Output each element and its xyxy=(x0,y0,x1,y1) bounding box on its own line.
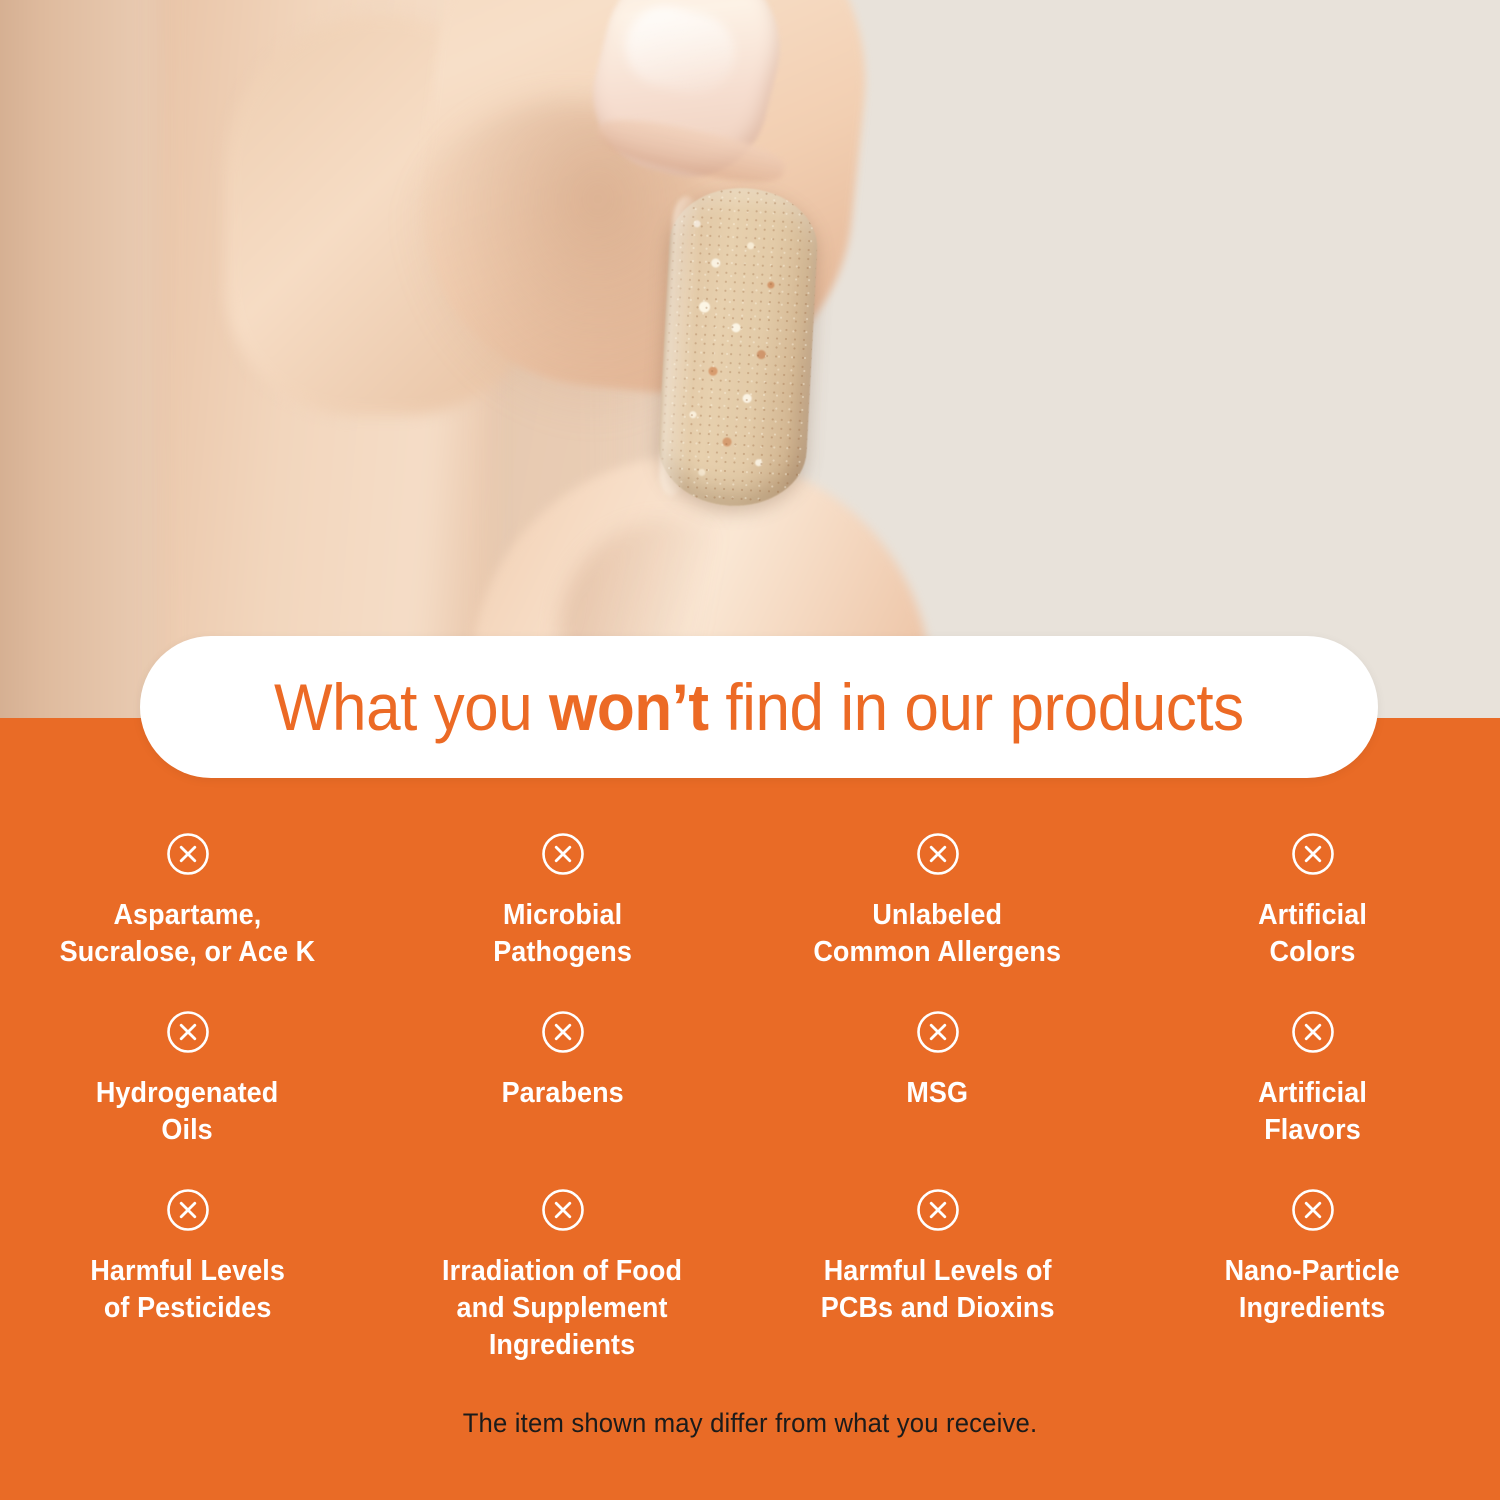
excluded-item-label: Microbial Pathogens xyxy=(493,897,632,971)
hero-product-photo xyxy=(0,0,1500,726)
excluded-ingredients-grid: Aspartame, Sucralose, or Ace KMicrobial … xyxy=(0,822,1500,1356)
excluded-item: MSG xyxy=(750,1000,1125,1178)
title-part-2: find in our products xyxy=(709,670,1244,744)
x-circle-icon xyxy=(541,832,585,881)
excluded-item: Aspartame, Sucralose, or Ace K xyxy=(0,822,375,1000)
excluded-item-label: MSG xyxy=(907,1075,969,1112)
excluded-item-label: Harmful Levels of Pesticides xyxy=(90,1253,285,1327)
excluded-item: Artificial Colors xyxy=(1125,822,1500,1000)
x-circle-icon xyxy=(166,1010,210,1059)
excluded-item-label: Nano-Particle Ingredients xyxy=(1225,1253,1400,1327)
x-circle-icon xyxy=(916,1188,960,1237)
excluded-item: Unlabeled Common Allergens xyxy=(750,822,1125,1000)
excluded-item-label: Hydrogenated Oils xyxy=(96,1075,278,1149)
excluded-item: Microbial Pathogens xyxy=(375,822,750,1000)
x-circle-icon xyxy=(1291,1188,1335,1237)
excluded-item-label: Artificial Colors xyxy=(1258,897,1367,971)
page-title: What you won’t find in our products xyxy=(274,674,1244,740)
x-circle-icon xyxy=(541,1010,585,1059)
x-circle-icon xyxy=(916,1010,960,1059)
excluded-item: Hydrogenated Oils xyxy=(0,1000,375,1178)
excluded-item-label: Harmful Levels of PCBs and Dioxins xyxy=(821,1253,1055,1327)
x-circle-icon xyxy=(166,1188,210,1237)
excluded-item-label: Irradiation of Food and Supplement Ingre… xyxy=(443,1253,683,1364)
title-card: What you won’t find in our products xyxy=(140,636,1378,778)
excluded-item-label: Aspartame, Sucralose, or Ace K xyxy=(60,897,316,971)
x-circle-icon xyxy=(1291,1010,1335,1059)
excluded-item-label: Parabens xyxy=(501,1075,623,1112)
x-circle-icon xyxy=(1291,832,1335,881)
excluded-item: Harmful Levels of Pesticides xyxy=(0,1178,375,1356)
excluded-item: Parabens xyxy=(375,1000,750,1178)
x-circle-icon xyxy=(916,832,960,881)
x-circle-icon xyxy=(166,832,210,881)
excluded-item: Irradiation of Food and Supplement Ingre… xyxy=(375,1178,750,1356)
x-circle-icon xyxy=(541,1188,585,1237)
excluded-item-label: Unlabeled Common Allergens xyxy=(814,897,1062,971)
excluded-item: Nano-Particle Ingredients xyxy=(1125,1178,1500,1356)
product-infographic: What you won’t find in our products Aspa… xyxy=(0,0,1500,1500)
disclaimer: The item shown may differ from what you … xyxy=(38,1408,1463,1439)
title-emphasis: won’t xyxy=(549,670,709,744)
excluded-item-label: Artificial Flavors xyxy=(1258,1075,1367,1149)
excluded-item: Harmful Levels of PCBs and Dioxins xyxy=(750,1178,1125,1356)
excluded-item: Artificial Flavors xyxy=(1125,1000,1500,1178)
title-part-1: What you xyxy=(274,670,549,744)
